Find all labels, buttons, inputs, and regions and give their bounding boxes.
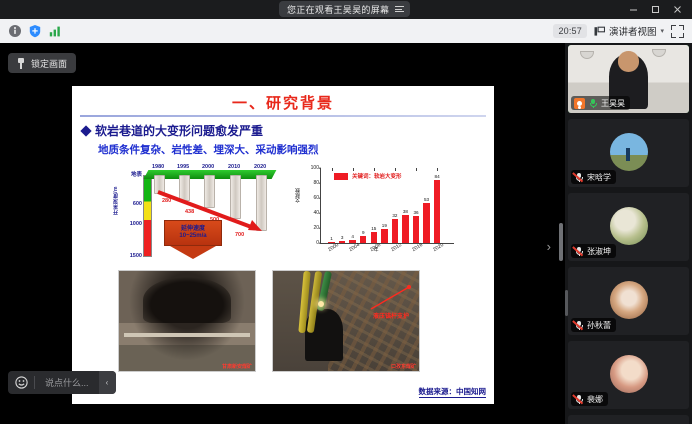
photo-right-annotation: 液压锚杆支护 bbox=[373, 311, 409, 320]
depth-tick-labels: 地表 600 1000 1500 bbox=[122, 168, 142, 260]
toolbar-left-group bbox=[7, 24, 62, 39]
room-lamp-2 bbox=[652, 49, 666, 57]
participant-tile-3[interactable]: 孙秋蕾 bbox=[568, 267, 689, 335]
chart-bar-value: 32 bbox=[392, 213, 397, 218]
photo-right-pointer-arrow bbox=[361, 283, 413, 313]
chart-x-tick-mark bbox=[374, 168, 375, 171]
tunnel-photo-right: 液压锚杆支护 口孜东煤矿 bbox=[272, 270, 420, 372]
participant-name-1: 宋晗学 bbox=[587, 172, 611, 183]
year-label-1: 1995 bbox=[177, 164, 189, 170]
slide-title: 一、研究背景 bbox=[72, 92, 494, 113]
chart-bar-value: 4 bbox=[351, 234, 354, 239]
meeting-clock: 20:57 bbox=[553, 24, 587, 38]
chart-bar bbox=[413, 216, 420, 243]
participant-name-chip-4: 裴娜 bbox=[571, 392, 608, 406]
chart-x-tick-mark bbox=[395, 168, 396, 171]
chart-bar bbox=[339, 241, 346, 243]
zoom-meeting-window: 您正在观看王昊昊的屏幕 bbox=[0, 0, 692, 424]
chart-bar-value: 3 bbox=[341, 235, 344, 240]
photo-right-caption: 口孜东煤矿 bbox=[391, 363, 416, 370]
participant-rail: 王昊昊 宋晗学 张淑坤 孙秋蕾 bbox=[565, 43, 692, 424]
chart-bar bbox=[392, 219, 399, 243]
screen-share-banner[interactable]: 您正在观看王昊昊的屏幕 bbox=[279, 1, 410, 17]
depth-tick-0: 地表 bbox=[131, 170, 142, 178]
chart-x-axis-label: 年 bbox=[373, 246, 378, 253]
participant-tile-4[interactable]: 裴娜 bbox=[568, 341, 689, 409]
mining-depth-figure: 开采深度/m 地表 600 1000 1500 1980 1995 2000 2… bbox=[116, 162, 276, 264]
maximize-button[interactable] bbox=[644, 0, 666, 19]
participant-name-chip-0: 王昊昊 bbox=[571, 96, 630, 110]
title-divider bbox=[80, 115, 486, 117]
mic-muted-icon[interactable] bbox=[574, 394, 584, 405]
chart-y-tick-mark bbox=[319, 243, 322, 244]
participant-name-3: 孙秋蕾 bbox=[587, 320, 611, 331]
chart-y-tick-mark bbox=[319, 228, 322, 229]
chat-input[interactable]: 说点什么... bbox=[35, 376, 99, 389]
presentation-slide: 一、研究背景 软岩巷道的大变形问题愈发严重 地质条件复杂、岩性差、埋深大、采动影… bbox=[72, 86, 494, 404]
chart-x-tick: 2004 bbox=[348, 242, 361, 253]
chart-x-tick: 2000 bbox=[327, 242, 340, 253]
chart-plot-area: 0204060801001349151932383653842000200420… bbox=[320, 168, 454, 244]
slide-subheading: 地质条件复杂、岩性差、埋深大、采动影响强烈 bbox=[98, 142, 319, 157]
chart-x-tick-mark bbox=[332, 168, 333, 171]
chart-bar bbox=[381, 229, 388, 243]
mic-muted-icon[interactable] bbox=[574, 172, 584, 183]
data-source-note: 数据来源：中国知网 bbox=[419, 386, 487, 398]
depth-tick-1: 600 bbox=[133, 201, 142, 207]
screen-share-banner-text: 您正在观看王昊昊的屏幕 bbox=[287, 3, 389, 16]
mic-muted-icon[interactable] bbox=[574, 246, 584, 257]
lock-screen-label: 锁定画面 bbox=[31, 57, 67, 70]
title-bar: 您正在观看王昊昊的屏幕 bbox=[0, 0, 692, 19]
chart-bar-value: 84 bbox=[435, 174, 440, 179]
mic-muted-icon[interactable] bbox=[574, 320, 584, 331]
chart-bar-value: 19 bbox=[382, 223, 387, 228]
avatar-4 bbox=[610, 355, 648, 393]
window-controls bbox=[622, 0, 688, 19]
chart-bar bbox=[371, 232, 378, 243]
lock-screen-button[interactable]: 锁定画面 bbox=[8, 53, 76, 73]
depth-tick-3: 1500 bbox=[130, 253, 142, 259]
speed-banner-line1: 延伸速度 bbox=[181, 226, 205, 234]
speed-banner-line2: 10~25m/a bbox=[179, 233, 206, 241]
view-mode-label: 演讲者视图 bbox=[609, 24, 657, 38]
host-badge-icon bbox=[574, 98, 585, 109]
depth-value-3: 700 bbox=[235, 232, 244, 238]
stage-scrollbar[interactable] bbox=[559, 223, 563, 261]
participant-name-chip-1: 宋晗学 bbox=[571, 170, 616, 184]
participant-name-chip-3: 孙秋蕾 bbox=[571, 318, 616, 332]
chart-bar-value: 1 bbox=[330, 236, 333, 241]
chart-x-tick-mark bbox=[437, 168, 438, 171]
extension-speed-banner: 延伸速度 10~25m/a bbox=[164, 220, 222, 246]
slide-heading: 软岩巷道的大变形问题愈发严重 bbox=[82, 122, 263, 139]
chart-x-tick: 2016 bbox=[411, 242, 424, 253]
chart-bar-value: 15 bbox=[371, 226, 376, 231]
depth-tick-2: 1000 bbox=[130, 221, 142, 227]
avatar-3 bbox=[610, 281, 648, 319]
participant-rail-scrollbar[interactable] bbox=[565, 290, 568, 316]
participant-tile-0[interactable]: 王昊昊 bbox=[568, 45, 689, 113]
minimize-button[interactable] bbox=[622, 0, 644, 19]
avatar-2 bbox=[610, 207, 648, 245]
participant-name-0: 王昊昊 bbox=[601, 98, 625, 109]
fullscreen-icon[interactable] bbox=[671, 25, 684, 38]
chart-bar-value: 38 bbox=[403, 209, 408, 214]
slide-heading-text: 软岩巷道的大变形问题愈发严重 bbox=[95, 122, 263, 139]
participant-name-4: 裴娜 bbox=[587, 394, 603, 405]
chevron-down-icon[interactable]: ▾ bbox=[660, 27, 664, 35]
depth-value-1: 438 bbox=[185, 209, 194, 215]
chart-bar-value: 53 bbox=[424, 197, 429, 202]
close-button[interactable] bbox=[666, 0, 688, 19]
participant-head bbox=[618, 51, 640, 71]
chart-bar bbox=[402, 215, 409, 244]
chart-bar bbox=[434, 180, 441, 243]
chart-bar bbox=[360, 236, 367, 243]
next-slide-chevron-icon[interactable]: › bbox=[547, 240, 551, 253]
more-options-icon[interactable] bbox=[395, 6, 404, 12]
participant-name-chip-2: 张淑坤 bbox=[571, 244, 616, 258]
shield-icon[interactable] bbox=[27, 24, 42, 39]
literature-count-chart: 文献数 关键词：软岩大变形 02040608010013491519323836… bbox=[290, 162, 462, 266]
participant-tile-5-partial[interactable]: ⌄ bbox=[568, 415, 689, 424]
participant-tile-1[interactable]: 宋晗学 bbox=[568, 119, 689, 187]
chart-y-tick-mark bbox=[319, 213, 322, 214]
photo-left-caption: 甘肃新安煤矿 bbox=[222, 363, 252, 370]
avatar-1 bbox=[610, 133, 648, 171]
chart-bar-value: 9 bbox=[362, 230, 365, 235]
year-label-0: 1980 bbox=[152, 164, 164, 170]
chart-x-tick-mark bbox=[353, 168, 354, 171]
chart-x-tick: 2020 bbox=[432, 242, 445, 253]
chart-bar bbox=[423, 203, 430, 243]
chart-x-tick-mark bbox=[416, 168, 417, 171]
chart-y-tick-mark bbox=[319, 168, 322, 169]
depth-value-0: 280 bbox=[162, 198, 171, 204]
signal-bars-icon[interactable] bbox=[47, 24, 62, 39]
participant-tile-2[interactable]: 张淑坤 bbox=[568, 193, 689, 261]
view-mode-selector[interactable]: 演讲者视图 ▾ bbox=[594, 24, 664, 38]
room-lamp-1 bbox=[580, 51, 594, 59]
year-label-4: 2020 bbox=[254, 164, 266, 170]
bullet-diamond-icon bbox=[80, 125, 91, 136]
speed-banner-arrow bbox=[170, 246, 216, 259]
smiley-icon[interactable] bbox=[8, 371, 34, 394]
participant-name-2: 张淑坤 bbox=[587, 246, 611, 257]
year-label-3: 2010 bbox=[228, 164, 240, 170]
chart-y-tick-mark bbox=[319, 183, 322, 184]
chat-input-dock: 说点什么... ‹ bbox=[8, 371, 116, 394]
pin-icon bbox=[17, 58, 25, 69]
shared-screen-stage: 锁定画面 一、研究背景 软岩巷道的大变形问题愈发严重 地质条件复杂、岩性差、埋深… bbox=[0, 43, 565, 424]
chart-y-axis-label: 文献数 bbox=[294, 188, 301, 203]
year-label-2: 2000 bbox=[202, 164, 214, 170]
speaker-view-icon bbox=[594, 26, 605, 37]
mic-on-icon[interactable] bbox=[588, 98, 598, 109]
chart-x-tick: 2012 bbox=[390, 242, 403, 253]
meeting-toolbar: 20:57 演讲者视图 ▾ bbox=[0, 19, 692, 43]
chat-collapse-button[interactable]: ‹ bbox=[99, 371, 116, 394]
info-icon[interactable] bbox=[7, 24, 22, 39]
tunnel-photo-left: 甘肃新安煤矿 bbox=[118, 270, 256, 372]
toolbar-right-group: 20:57 演讲者视图 ▾ bbox=[553, 24, 684, 38]
chart-bar-value: 36 bbox=[413, 210, 418, 215]
depth-axis-label: 开采深度/m bbox=[112, 186, 119, 215]
chart-y-tick-mark bbox=[319, 198, 322, 199]
